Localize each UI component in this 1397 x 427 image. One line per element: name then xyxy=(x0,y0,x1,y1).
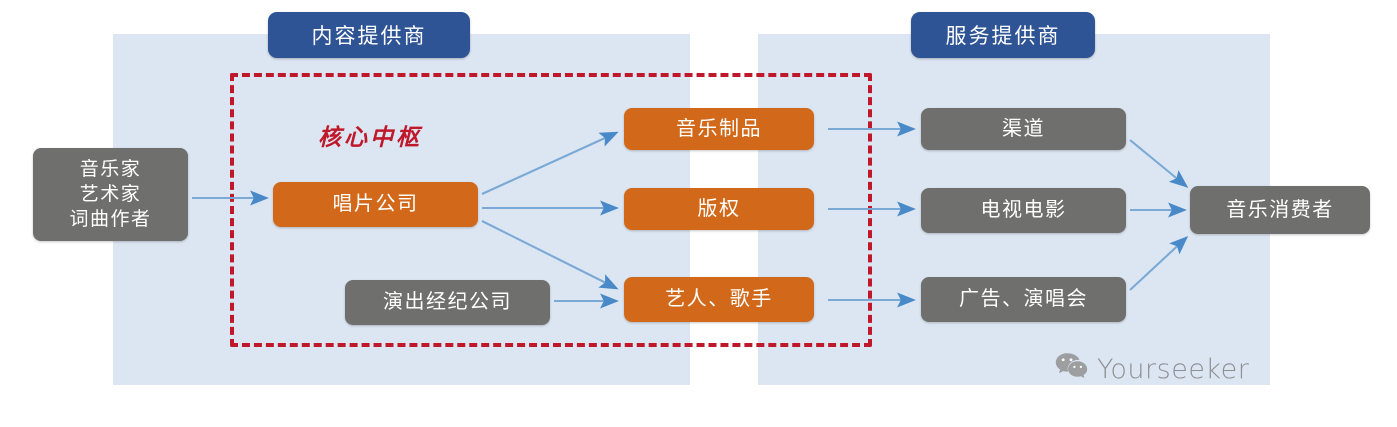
node-artist-singer: 艺人、歌手 xyxy=(624,277,814,322)
node-artists-line-3: 词曲作者 xyxy=(69,207,151,232)
node-artists: 音乐家 艺术家 词曲作者 xyxy=(33,148,188,241)
node-tv-film: 电视电影 xyxy=(921,188,1126,233)
node-performance-agency: 演出经纪公司 xyxy=(345,280,550,325)
header-service-provider: 服务提供商 xyxy=(911,12,1095,58)
header-content-provider: 内容提供商 xyxy=(268,12,470,58)
diagram-canvas: 内容提供商 服务提供商 核心中枢 音乐家 艺术家 词曲作者 唱片公司 演出经纪公… xyxy=(0,0,1397,427)
core-hub-annotation: 核心中枢 xyxy=(318,118,422,152)
watermark-text: Yourseeker xyxy=(1097,354,1249,385)
node-ad-concert: 广告、演唱会 xyxy=(921,277,1126,322)
node-label-company: 唱片公司 xyxy=(273,182,478,227)
wechat-icon xyxy=(1055,352,1088,387)
node-artists-line-2: 艺术家 xyxy=(80,182,142,207)
node-artists-line-1: 音乐家 xyxy=(80,157,142,182)
watermark: Yourseeker xyxy=(1055,352,1249,387)
node-copyright: 版权 xyxy=(624,188,814,230)
node-music-consumer: 音乐消费者 xyxy=(1190,186,1370,234)
node-music-product: 音乐制品 xyxy=(624,108,814,150)
node-channel: 渠道 xyxy=(921,108,1126,150)
